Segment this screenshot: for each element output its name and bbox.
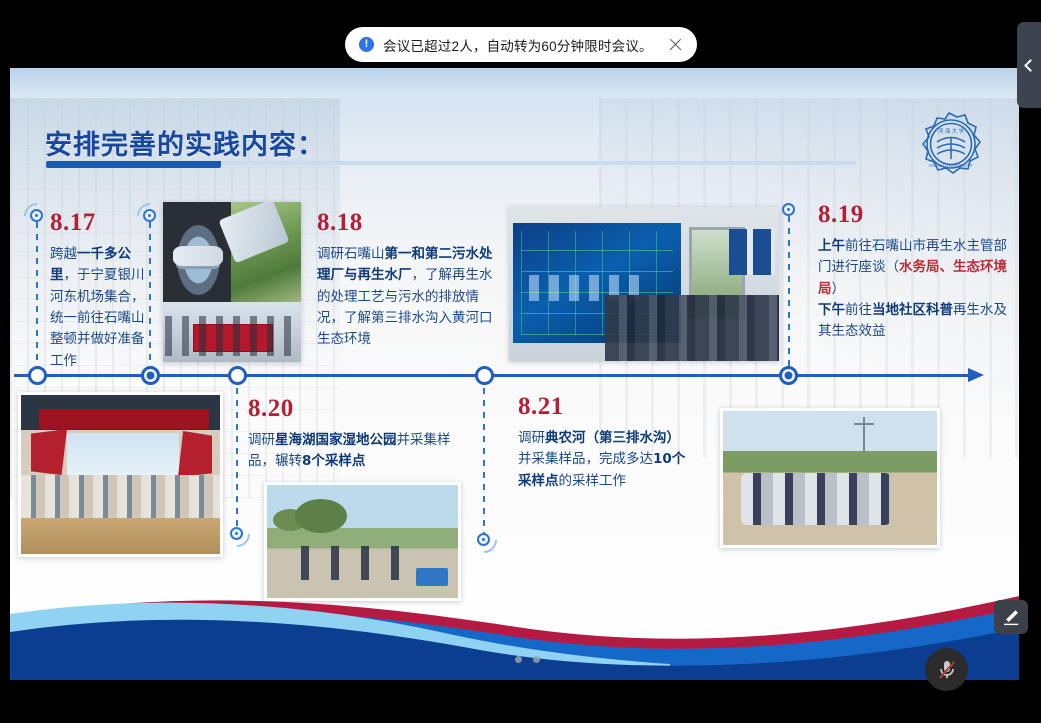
photo-travel-collage	[163, 202, 301, 362]
microphone-mute-button[interactable]	[925, 648, 968, 691]
pagination-dot-1[interactable]	[515, 656, 522, 663]
close-icon[interactable]	[667, 36, 685, 54]
timeline-entry-819: 8.19 上午前往石嘴山市再生水主管部门进行座谈（水务局、生态环境局）下午前往当…	[818, 202, 1018, 343]
timeline-marker-819[interactable]	[228, 366, 247, 385]
entry-text-820: 调研星海湖国家湿地公园并采集样品，辗转8个采样点	[248, 430, 473, 473]
entry-date-820: 8.20	[248, 396, 473, 421]
slide-sky-band	[10, 68, 1019, 98]
photo-classroom-science	[18, 392, 223, 557]
timeline-entry-820: 8.20 调研星海湖国家湿地公园并采集样品，辗转8个采样点	[248, 396, 473, 473]
timeline-marker-820[interactable]	[475, 366, 494, 385]
timeline-entry-817: 8.17 跨越一千多公里，于宁夏银川河东机场集合，统一前往石嘴山整顿并做好准备工…	[50, 210, 150, 372]
connector-endpoint-817	[30, 209, 43, 222]
svg-text:河 海 大 学: 河 海 大 学	[938, 127, 965, 135]
pen-annotate-icon	[1001, 607, 1021, 627]
annotate-button[interactable]	[994, 600, 1028, 634]
connector-820	[236, 388, 238, 528]
info-icon	[359, 37, 374, 52]
timeline-marker-821[interactable]	[779, 366, 798, 385]
connector-endpoint-821	[477, 533, 490, 546]
photo-control-room	[509, 207, 779, 361]
entry-date-817: 8.17	[50, 210, 150, 235]
photo-field-sampling	[720, 408, 940, 548]
entry-date-819: 8.19	[818, 202, 1018, 227]
entry-date-821: 8.21	[518, 394, 693, 419]
timeline-arrow-right-icon	[968, 368, 984, 382]
meeting-limit-toast: 会议已超过2人，自动转为60分钟限时会议。	[345, 27, 697, 62]
chevron-left-icon	[1024, 59, 1037, 72]
connector-endpoint-819	[782, 203, 795, 216]
connector-819	[788, 216, 790, 368]
entry-text-817: 跨越一千多公里，于宁夏银川河东机场集合，统一前往石嘴山整顿并做好准备工作	[50, 244, 150, 372]
title-underline-accent	[46, 164, 221, 168]
slide-wave-decoration	[10, 570, 1019, 680]
slide-pagination[interactable]	[515, 656, 540, 663]
screen-share-viewport: 会议已超过2人，自动转为60分钟限时会议。 安排完善的实践内容： 河 海 大 学	[0, 0, 1041, 723]
timeline-marker-817[interactable]	[28, 366, 47, 385]
connector-endpoint-820	[230, 527, 243, 540]
toast-message: 会议已超过2人，自动转为60分钟限时会议。	[383, 35, 658, 55]
logo-english-text: HOHAI UNIVERSITY	[929, 163, 972, 168]
page-title: 安排完善的实践内容：	[45, 123, 325, 162]
entry-text-819: 上午前往石嘴山市再生水主管部门进行座谈（水务局、生态环境局）下午前往当地社区科普…	[818, 236, 1018, 343]
entry-text-821: 调研典农河（第三排水沟）并采集样品，完成多达10个采样点的采样工作	[518, 428, 693, 492]
connector-817	[36, 222, 38, 368]
hohai-university-logo: 河 海 大 学 HOHAI UNIVERSITY	[912, 110, 986, 184]
entry-date-818: 8.18	[317, 210, 497, 235]
entry-text-818: 调研石嘴山第一和第二污水处理厂与再生水厂，了解再生水的处理工艺与污水的排放情况，…	[317, 244, 497, 351]
timeline-entry-818: 8.18 调研石嘴山第一和第二污水处理厂与再生水厂，了解再生水的处理工艺与污水的…	[317, 210, 497, 351]
pagination-dot-2[interactable]	[533, 656, 540, 663]
side-panel-toggle[interactable]	[1017, 22, 1041, 108]
microphone-muted-icon	[935, 658, 959, 682]
connector-821	[483, 388, 485, 534]
timeline-entry-821: 8.21 调研典农河（第三排水沟）并采集样品，完成多达10个采样点的采样工作	[518, 394, 693, 492]
